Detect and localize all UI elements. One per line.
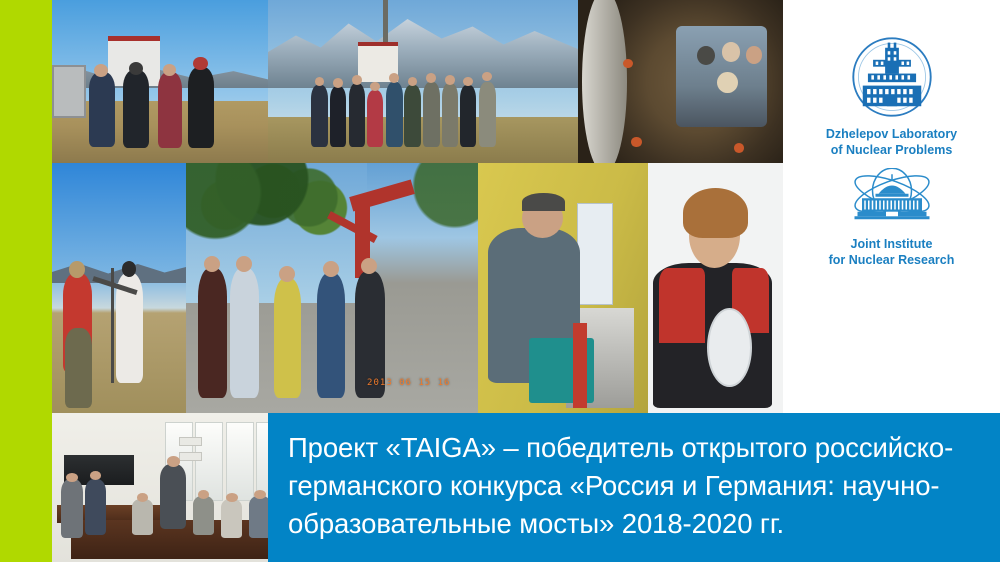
photo-tripod-assembly: Researchers assembling a tripod instrume… (52, 163, 186, 413)
logo-dlnp-caption: Dzhelepov Laboratory of Nuclear Problems (783, 126, 1000, 158)
logo-dlnp: Dzhelepov Laboratory of Nuclear Problems (783, 34, 1000, 158)
photo-conference-room: Seminar in a conference room with long t… (52, 413, 287, 562)
caption-box: Проект «TAIGA» – победитель открытого ро… (268, 413, 1000, 562)
logo-jinr-caption: Joint Institute for Nuclear Research (783, 236, 1000, 268)
dlnp-emblem-icon (849, 34, 935, 120)
camera-timestamp: 2013 06 15 16 (367, 378, 450, 388)
photo-detector-tube: People seen through the opening of a lar… (578, 0, 783, 163)
photo-researcher-cone: Young researcher holding a white photomu… (648, 163, 783, 413)
jinr-atom-building-icon (847, 168, 937, 230)
photo-lab-soldering: Scientist soldering electronics in a yel… (478, 163, 648, 413)
logo-jinr: Joint Institute for Nuclear Research (783, 168, 1000, 268)
caption-text: Проект «TAIGA» – победитель открытого ро… (288, 429, 982, 543)
photo-team-mountains: Large team group photo with snow-capped … (268, 0, 578, 163)
photo-outdoor-discussion: 2013 06 15 16 Group of people talking ou… (186, 163, 478, 413)
photo-group-field: Group of four people standing in a dry f… (52, 0, 268, 163)
accent-bar (0, 0, 52, 562)
logo-column: Dzhelepov Laboratory of Nuclear Problems (783, 0, 1000, 413)
slide-root: Group of four people standing in a dry f… (0, 0, 1000, 562)
